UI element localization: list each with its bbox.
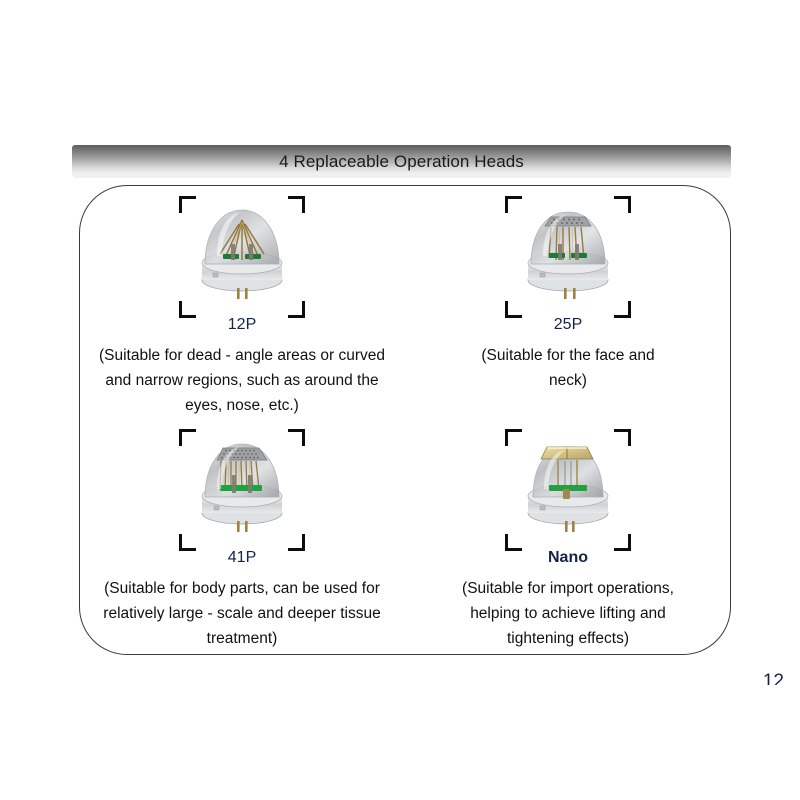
operation-head-label-25p: 25P [554, 316, 582, 334]
page-number: 12 [763, 672, 784, 685]
corner-bracket-bottom-left-icon [179, 301, 196, 318]
operation-head-description-25p: (Suitable for the face and neck) [461, 343, 676, 393]
operation-head-nano-photo [513, 433, 623, 533]
page-title: 4 Replaceable Operation Heads [279, 152, 524, 172]
operation-head-label-12p: 12P [228, 316, 256, 334]
operation-head-description-41p: (Suitable for body parts, can be used fo… [90, 576, 395, 651]
operation-head-41p-photo [187, 433, 297, 533]
corner-bracket-bottom-left-icon [505, 301, 522, 318]
operation-head-description-nano: (Suitable for import operations, helping… [461, 576, 676, 651]
operation-head-25p-photo [513, 200, 623, 300]
operation-head-label-nano: Nano [548, 549, 588, 567]
photo-frame-12p [179, 196, 305, 318]
operation-head-label-41p: 41P [228, 549, 256, 567]
corner-bracket-bottom-right-icon [288, 301, 305, 318]
corner-bracket-bottom-right-icon [288, 534, 305, 551]
operation-head-card-nano: Nano (Suitable for import operations, he… [405, 423, 731, 656]
operation-head-description-12p: (Suitable for dead - angle areas or curv… [90, 343, 395, 418]
corner-bracket-bottom-right-icon [614, 534, 631, 551]
photo-frame-25p [505, 196, 631, 318]
corner-bracket-bottom-right-icon [614, 301, 631, 318]
operation-head-card-12p: 12P (Suitable for dead - angle areas or … [79, 190, 405, 423]
operation-head-card-41p: 41P (Suitable for body parts, can be use… [79, 423, 405, 656]
operation-heads-grid: 12P (Suitable for dead - angle areas or … [79, 190, 731, 655]
operation-head-card-25p: 25P (Suitable for the face and neck) [405, 190, 731, 423]
section-title-banner: 4 Replaceable Operation Heads [72, 145, 731, 178]
corner-bracket-bottom-left-icon [179, 534, 196, 551]
photo-frame-41p [179, 429, 305, 551]
operation-head-12p-photo [187, 200, 297, 300]
photo-frame-nano [505, 429, 631, 551]
corner-bracket-bottom-left-icon [505, 534, 522, 551]
